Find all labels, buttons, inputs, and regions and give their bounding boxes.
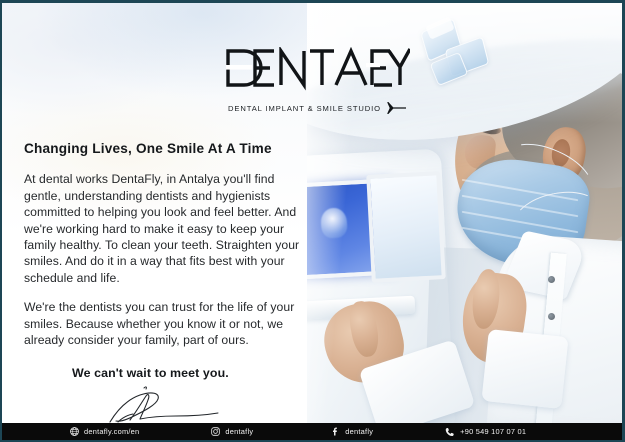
footer-facebook-label: dentafly xyxy=(345,427,373,436)
tagline-row: DENTAL IMPLANT & SMILE STUDIO xyxy=(228,102,414,114)
footer-instagram[interactable]: dentafly xyxy=(211,427,253,436)
d-notch xyxy=(226,65,252,70)
footer-phone[interactable]: +90 549 107 07 01 xyxy=(445,427,526,437)
brand-logo: DENTAL IMPLANT & SMILE STUDIO xyxy=(224,47,414,114)
paragraph-two: We're the dentists you can trust for the… xyxy=(24,299,304,348)
footer-website[interactable]: dentafly.com/en xyxy=(70,427,139,436)
poster-canvas: DENTAL IMPLANT & SMILE STUDIO Changing L… xyxy=(0,0,625,442)
footer-facebook[interactable]: dentafly xyxy=(331,427,373,436)
footer-website-label: dentafly.com/en xyxy=(84,427,139,436)
page-title: Changing Lives, One Smile At A Time xyxy=(24,141,304,157)
footer-instagram-label: dentafly xyxy=(225,427,253,436)
paragraph-one: At dental works DentaFly, in Antalya you… xyxy=(24,171,304,286)
phone-icon xyxy=(445,427,455,437)
globe-icon xyxy=(70,427,79,436)
brand-tagline: DENTAL IMPLANT & SMILE STUDIO xyxy=(228,104,381,113)
dentafly-wordmark xyxy=(224,47,410,91)
a-notch xyxy=(366,63,380,67)
closing-line: We can't wait to meet you. xyxy=(72,366,304,380)
instagram-icon xyxy=(211,427,220,436)
letter-body: Changing Lives, One Smile At A Time At d… xyxy=(24,141,304,428)
plane-icon xyxy=(387,102,407,114)
footer-phone-label: +90 549 107 07 01 xyxy=(460,427,526,436)
facebook-icon xyxy=(331,427,340,436)
contact-footer: dentafly.com/en dentafly dentafly xyxy=(2,423,622,440)
